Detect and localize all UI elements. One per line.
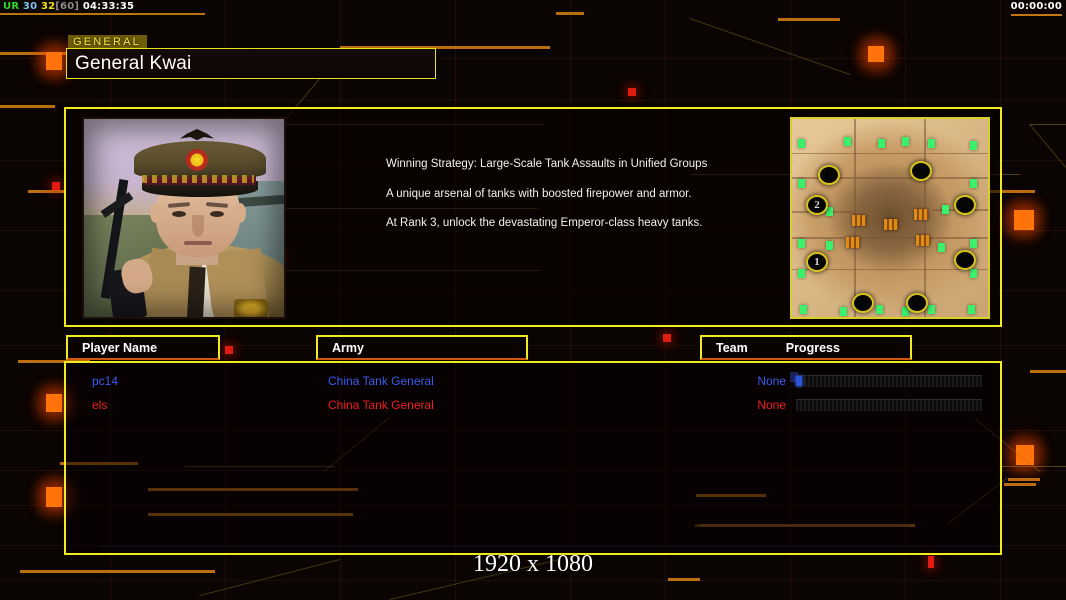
circuit-trace <box>1030 124 1066 125</box>
general-description: Winning Strategy: Large-Scale Tank Assau… <box>386 157 726 232</box>
progress-bar <box>796 399 982 411</box>
circuit-diagonal <box>690 18 850 75</box>
description-line-1: Winning Strategy: Large-Scale Tank Assau… <box>386 157 726 173</box>
column-header-team-progress[interactable]: Team Progress <box>700 335 912 360</box>
map-supply-marker <box>928 305 935 314</box>
map-supply-marker <box>938 243 945 252</box>
map-supply-marker <box>928 139 935 148</box>
accent-bar <box>668 578 700 581</box>
map-start-position[interactable]: 2 <box>806 195 828 215</box>
general-tab-label: GENERAL <box>68 35 147 49</box>
grid-hline <box>0 100 1066 101</box>
map-start-position[interactable] <box>818 165 840 185</box>
map-start-position[interactable] <box>954 195 976 215</box>
map-start-position[interactable]: 1 <box>806 252 828 272</box>
status-underline <box>0 13 205 15</box>
resolution-label: 1920 x 1080 <box>0 551 1066 578</box>
accent-bar <box>28 190 64 193</box>
map-supply-marker <box>826 241 833 250</box>
general-name-field[interactable]: General Kwai <box>66 48 436 79</box>
map-supply-marker <box>876 305 883 314</box>
player-name-cell: els <box>92 398 107 412</box>
map-supply-marker <box>942 205 949 214</box>
portrait-vignette <box>84 119 284 317</box>
map-supply-marker <box>970 179 977 188</box>
general-info-panel: Winning Strategy: Large-Scale Tank Assau… <box>64 107 1002 327</box>
team-cell: None <box>726 398 786 412</box>
army-cell: China Tank General <box>328 374 434 388</box>
table-row[interactable]: elsChina Tank GeneralNone <box>66 393 1000 417</box>
map-terrain-crack <box>792 237 990 239</box>
map-supply-marker <box>798 179 805 188</box>
map-supply-marker <box>844 137 851 146</box>
map-start-position[interactable] <box>906 293 928 313</box>
accent-bar <box>1030 370 1066 373</box>
circuit-diagonal <box>1029 124 1066 187</box>
map-start-position[interactable] <box>910 161 932 181</box>
status-value-b: 32 <box>41 1 55 12</box>
accent-bar <box>1004 483 1036 486</box>
map-supply-marker <box>798 139 805 148</box>
progress-bar <box>796 375 982 387</box>
accent-bar <box>0 105 55 108</box>
column-header-army[interactable]: Army <box>316 335 528 360</box>
map-supply-marker <box>970 141 977 150</box>
players-list-panel: pc14China Tank GeneralNoneelsChina Tank … <box>64 361 1002 555</box>
map-structure-marker <box>852 215 866 226</box>
map-structure-marker <box>884 219 898 230</box>
status-value-c: [60] <box>55 1 79 12</box>
map-supply-marker <box>970 239 977 248</box>
status-left-group: UR 30 32[60] 04:33:35 <box>3 0 134 14</box>
column-header-team-label: Team <box>716 341 748 355</box>
description-line-3: At Rank 3, unlock the devastating Empero… <box>386 216 726 232</box>
map-supply-marker <box>840 307 847 316</box>
player-name-cell: pc14 <box>92 374 118 388</box>
map-supply-marker <box>800 305 807 314</box>
accent-glow <box>1006 435 1044 473</box>
accent-bar <box>778 18 840 21</box>
status-elapsed: 04:33:35 <box>83 1 134 12</box>
table-row[interactable]: pc14China Tank GeneralNone <box>66 369 1000 393</box>
general-portrait-image <box>82 117 286 319</box>
map-structure-marker <box>914 209 928 220</box>
map-start-position[interactable] <box>852 293 874 313</box>
map-supply-marker <box>902 137 909 146</box>
column-header-player-name[interactable]: Player Name <box>66 335 220 360</box>
army-cell: China Tank General <box>328 398 434 412</box>
status-bar: UR 30 32[60] 04:33:35 00:00:00 <box>0 0 1066 14</box>
accent-block <box>628 88 636 96</box>
map-supply-marker <box>798 239 805 248</box>
status-value-a: 30 <box>23 1 37 12</box>
map-supply-marker <box>968 305 975 314</box>
map-supply-marker <box>970 269 977 278</box>
accent-glow <box>858 36 896 74</box>
accent-block <box>663 334 671 342</box>
accent-block <box>52 182 60 190</box>
team-cell: None <box>726 374 786 388</box>
map-supply-marker <box>798 269 805 278</box>
column-header-player-name-label: Player Name <box>82 341 157 355</box>
map-supply-marker <box>878 139 885 148</box>
column-header-progress-label: Progress <box>786 341 840 355</box>
general-name-text: General Kwai <box>67 53 191 75</box>
map-terrain-crack <box>792 153 990 154</box>
map-start-position[interactable] <box>954 250 976 270</box>
status-clock: 00:00:00 <box>1011 0 1062 16</box>
grid-hline <box>0 580 1066 581</box>
column-header-army-label: Army <box>332 341 364 355</box>
accent-block <box>225 346 233 354</box>
accent-glow <box>1004 200 1042 238</box>
map-structure-marker <box>846 237 860 248</box>
description-line-2: A unique arsenal of tanks with boosted f… <box>386 187 726 203</box>
map-structure-marker <box>916 235 930 246</box>
map-preview[interactable]: 21 <box>790 117 990 319</box>
progress-bar-fill <box>796 376 802 386</box>
status-ur-label: UR <box>3 1 19 12</box>
accent-bar <box>1008 478 1040 481</box>
